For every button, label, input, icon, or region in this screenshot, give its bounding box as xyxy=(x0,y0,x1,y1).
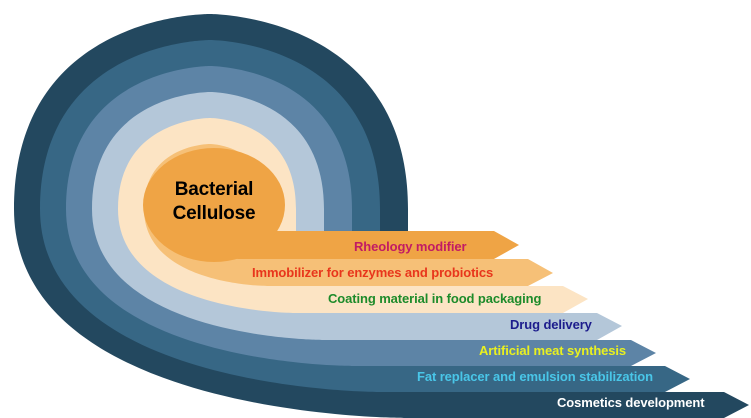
arrow-label-immobilizer-enzymes-probiotics[interactable]: Immobilizer for enzymes and probiotics xyxy=(252,266,493,279)
ring-group xyxy=(14,14,749,418)
arrow-label-fat-replacer-emulsion-stabilization[interactable]: Fat replacer and emulsion stabilization xyxy=(417,370,653,383)
arrow-label-rheology-modifier[interactable]: Rheology modifier xyxy=(354,240,466,253)
arrow-label-coating-material-food-packaging[interactable]: Coating material in food packaging xyxy=(328,292,541,305)
arrow-label-artificial-meat-synthesis[interactable]: Artificial meat synthesis xyxy=(479,344,626,357)
concentric-arrow-diagram xyxy=(0,0,751,418)
core-ellipse xyxy=(143,148,285,262)
arrow-label-drug-delivery[interactable]: Drug delivery xyxy=(510,318,592,331)
arrow-label-cosmetics-development[interactable]: Cosmetics development xyxy=(557,396,704,409)
figure-root: Bacterial Cellulose Rheology modifierImm… xyxy=(0,0,751,418)
